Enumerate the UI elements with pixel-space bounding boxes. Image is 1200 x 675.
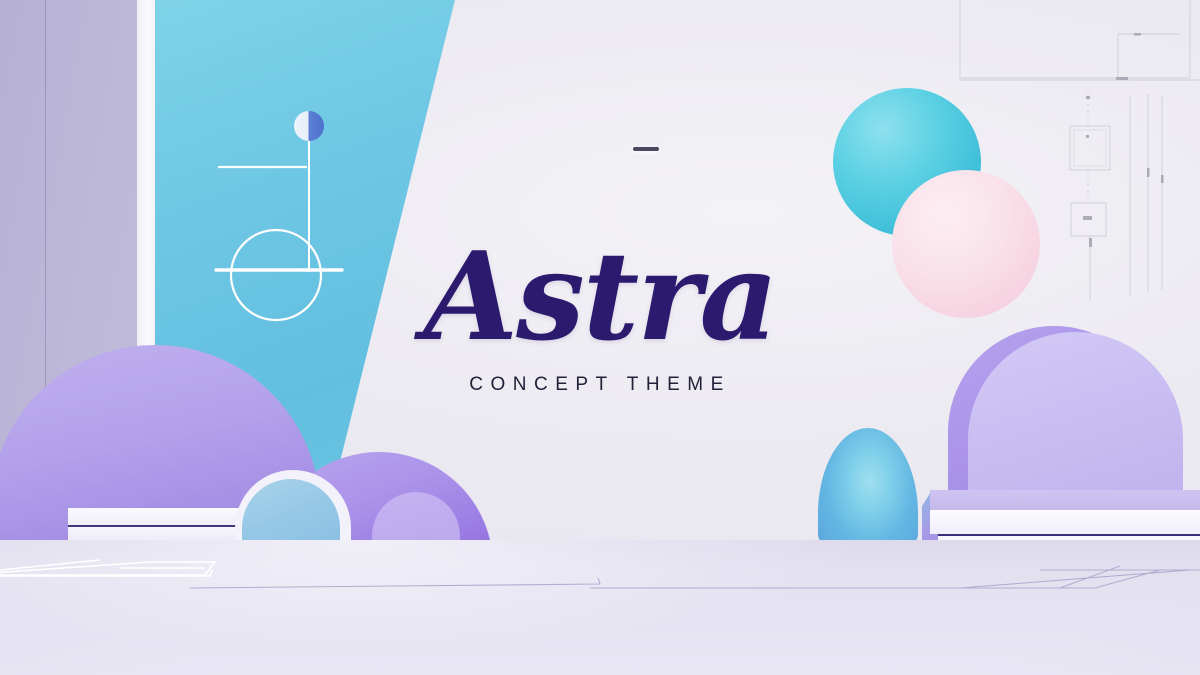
brand-tagline: CONCEPT THEME <box>0 374 1200 396</box>
right-slab-upper <box>930 510 1200 534</box>
center-dash-mark <box>633 147 659 151</box>
brand-lockup: Astra CONCEPT THEME <box>0 232 1200 396</box>
brand-wordmark: Astra <box>0 232 1200 360</box>
hero-stage: Astra CONCEPT THEME <box>0 0 1200 675</box>
line-art-sphere <box>294 111 324 141</box>
floor-outline-sheets <box>0 540 1200 675</box>
right-slab-top-surface <box>930 490 1200 510</box>
